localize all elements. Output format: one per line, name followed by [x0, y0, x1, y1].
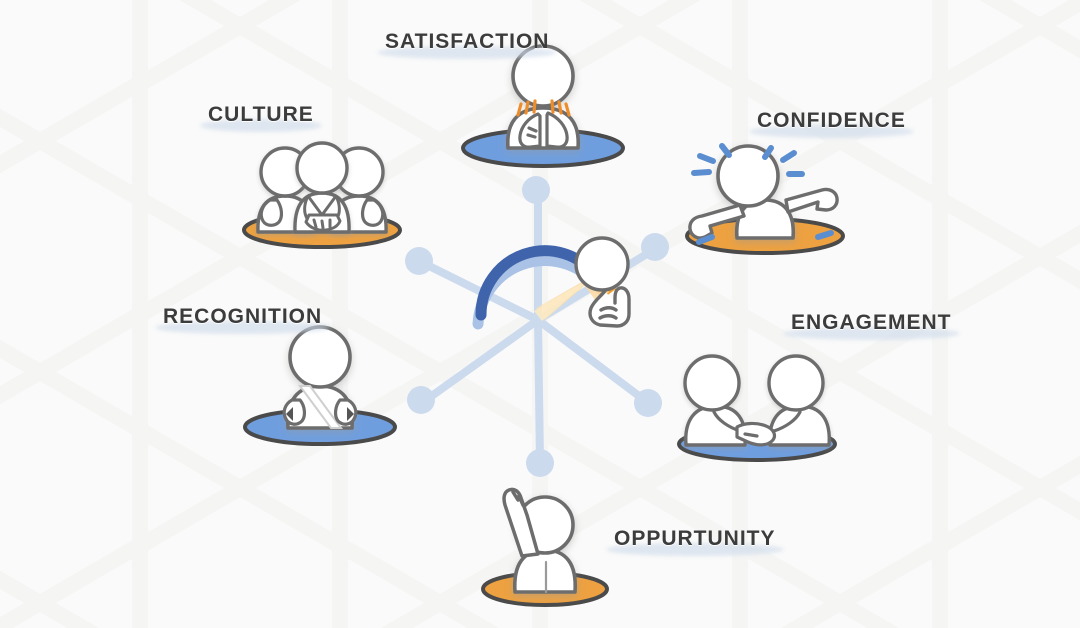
label-satisfaction-text: SATISFACTION [385, 30, 549, 54]
culture-person-center-head [297, 143, 347, 193]
connector-to-oppurtunity [538, 320, 540, 462]
node-oppurtunity [526, 449, 554, 477]
thumbs-up-figure-icon [576, 238, 629, 326]
connector-to-engagement [538, 320, 647, 402]
label-oppurtunity[interactable]: OPPURTUNITY [614, 527, 776, 551]
label-satisfaction[interactable]: SATISFACTION [385, 30, 549, 54]
engagement-person-right-head [769, 356, 823, 410]
recognition-illustration [245, 327, 395, 444]
oppurtunity-illustration [483, 489, 607, 605]
node-satisfaction [522, 176, 550, 204]
label-engagement-text: ENGAGEMENT [791, 311, 952, 335]
node-culture [405, 247, 433, 275]
label-confidence-text: CONFIDENCE [757, 109, 906, 133]
label-recognition-text: RECOGNITION [163, 305, 322, 329]
label-culture-text: CULTURE [208, 103, 314, 127]
satisfaction-illustration [463, 46, 623, 166]
label-confidence[interactable]: CONFIDENCE [757, 109, 906, 133]
node-confidence [641, 233, 669, 261]
thumbs-up-figure-head [576, 238, 628, 290]
engagement-illustration [679, 356, 835, 460]
recognition-head [290, 327, 350, 387]
diagram-canvas: SATISFACTION CULTURE CONFIDENCE RECOGNIT… [0, 0, 1080, 628]
label-culture[interactable]: CULTURE [208, 103, 314, 127]
label-oppurtunity-text: OPPURTUNITY [614, 527, 776, 551]
connector-lines [421, 197, 655, 462]
engagement-person-left-head [685, 356, 739, 410]
connector-to-recognition [426, 320, 538, 400]
label-recognition[interactable]: RECOGNITION [163, 305, 322, 329]
label-engagement[interactable]: ENGAGEMENT [791, 311, 952, 335]
node-engagement [634, 389, 662, 417]
confidence-illustration [687, 146, 843, 253]
node-recognition [407, 386, 435, 414]
culture-illustration [244, 143, 400, 247]
